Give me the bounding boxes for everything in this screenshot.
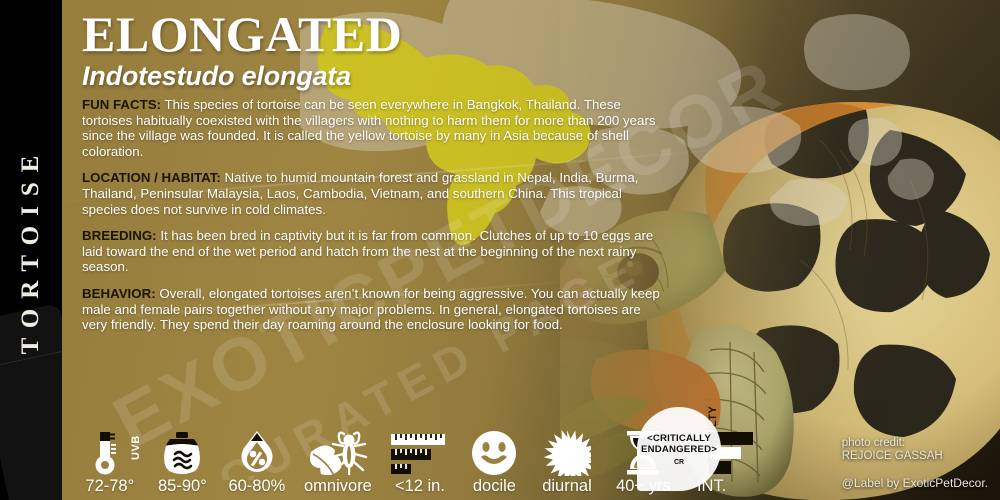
category-spine: TORTOISE — [0, 0, 62, 500]
photo-credit-label: photo credit: — [842, 437, 988, 451]
section-lead: BREEDING: — [82, 228, 157, 243]
care-icon-label: docile — [473, 477, 516, 496]
photographer-name: REJOICE GASSAH — [842, 450, 988, 464]
ruler-size-icon — [389, 430, 451, 476]
care-icon-temperature: UVB 72-78° — [74, 418, 146, 496]
care-icon-activity: diurnal — [530, 418, 604, 496]
sun-icon — [543, 430, 591, 476]
uvb-badge-label: UVB — [130, 435, 142, 460]
care-icon-label: <12 in. — [395, 477, 445, 496]
care-icon-label: 60-80% — [228, 477, 285, 496]
section-body: This species of tortoise can be seen eve… — [82, 97, 656, 159]
conservation-status-badge: <CRITICALLY ENDANGERED> CR — [637, 407, 721, 491]
label-attribution: @Label by ExoticPetDecor. — [842, 477, 988, 491]
page-title: ELONGATED — [82, 0, 722, 60]
status-badge-code: CR — [674, 459, 684, 466]
section-breeding: BREEDING: It has been bred in captivity … — [82, 228, 667, 275]
care-icon-label: 85-90° — [158, 477, 207, 496]
care-icon-label: omnivore — [304, 477, 372, 496]
care-icon-label: 72-78° — [85, 477, 134, 496]
section-fun-facts: FUN FACTS: This species of tortoise can … — [82, 97, 667, 159]
care-icon-label: diurnal — [542, 477, 592, 496]
section-behavior: BEHAVIOR: Overall, elongated tortoises a… — [82, 286, 667, 333]
species-label-card: EXOTICPETDECOR CURATED PAGE TORTOISE ELO… — [0, 0, 1000, 500]
care-icon-basking-temp: 85-90° — [146, 418, 220, 496]
heat-lamp-icon — [157, 430, 207, 476]
section-body: Overall, elongated tortoises aren’t know… — [82, 286, 660, 332]
section-body: It has been bred in captivity but it is … — [82, 228, 653, 274]
section-location-habitat: LOCATION / HABITAT: Native to humid moun… — [82, 170, 667, 217]
section-lead: BEHAVIOR: — [82, 286, 156, 301]
section-lead: LOCATION / HABITAT: — [82, 170, 221, 185]
scientific-name: Indotestudo elongata — [82, 60, 722, 97]
status-badge: <CRITICALLY ENDANGERED> — [637, 433, 721, 455]
omnivore-icon — [307, 430, 369, 476]
humidity-drop-icon — [234, 430, 280, 476]
smiley-icon — [471, 430, 517, 476]
care-icon-diet: omnivore — [295, 418, 382, 496]
thermometer-icon: UVB — [89, 430, 131, 476]
section-lead: FUN FACTS: — [82, 97, 161, 112]
care-icon-humidity: 60-80% — [219, 418, 294, 496]
spine-category-label: TORTOISE — [17, 146, 45, 355]
care-icon-size: <12 in. — [381, 418, 458, 496]
credits-block: photo credit: REJOICE GASSAH @Label by E… — [842, 437, 988, 491]
care-icon-temperament: docile — [459, 418, 531, 496]
